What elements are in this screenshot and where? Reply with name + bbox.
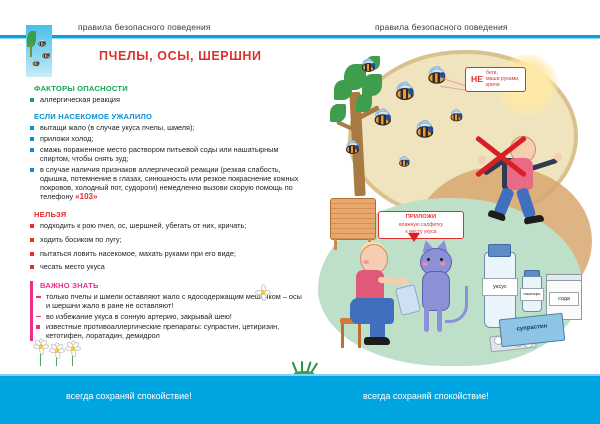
cat-illustration — [404, 238, 472, 346]
list-item: пытаться ловить насекомое, махать руками… — [30, 249, 306, 258]
bee-icon — [393, 87, 413, 98]
accent-bar — [30, 281, 33, 341]
section-if-stung: ЕСЛИ НАСЕКОМОЕ УЖАЛИЛО вытащи жало (в сл… — [30, 112, 306, 201]
bottle-cap-icon — [488, 244, 511, 257]
emergency-phone-number: «103» — [75, 192, 97, 201]
callout-line: влажную салфетку — [383, 222, 459, 228]
list-item: во избежание укуса в сонную артерию, зак… — [36, 312, 306, 321]
bee-icon — [360, 62, 375, 70]
section-danger-factors: ФАКТОРЫ ОПАСНОСТИ аллергическая реакция — [30, 84, 306, 104]
soda-label: сода — [549, 292, 579, 306]
list-item: приложи холод; — [30, 134, 306, 143]
header-label-right: правила безопасного поведения — [375, 22, 508, 32]
callout-running-advice: НЕ беги, маши руками, кричи — [465, 67, 526, 92]
ammonia-label: нашатырь — [520, 288, 544, 301]
daisy-icon — [33, 340, 47, 353]
bee-icon — [414, 125, 434, 135]
section-heading: ЕСЛИ НАСЕКОМОЕ УЖАЛИЛО — [34, 112, 306, 121]
list-item: чесать место укуса — [30, 262, 306, 271]
bee-icon — [372, 113, 391, 123]
section-heading: НЕЛЬЗЯ — [34, 210, 306, 219]
bee-icon — [344, 144, 359, 152]
list-item: ходить босиком по лугу; — [30, 235, 306, 244]
bee-icon — [449, 112, 463, 119]
forbidden-cross-icon — [470, 126, 532, 188]
footer-text-left: всегда сохраняй спокойствие! — [66, 391, 192, 401]
header-label-left: правила безопасного поведения — [78, 22, 211, 32]
daisy-icon — [65, 342, 79, 355]
callout-line: кричи — [486, 83, 520, 88]
beehive-icon — [330, 198, 376, 240]
list-item: известные противоаллергические препараты… — [36, 322, 306, 340]
page-title: ПЧЕЛЫ, ОСЫ, ШЕРШНИ — [99, 49, 262, 63]
list-item: вытащи жало (в случае укуса пчелы, шмеля… — [30, 123, 306, 132]
remedies-illustration: уксус нашатырь сода супрастин — [476, 244, 588, 354]
callout-line: к месту укуса — [383, 229, 459, 235]
footer-highlight — [0, 374, 600, 376]
daisy-icon — [49, 344, 63, 357]
bee-icon — [426, 71, 446, 81]
logo-plate-bees-icon — [26, 25, 52, 77]
bee-icon — [398, 159, 410, 165]
content-column: ФАКТОРЫ ОПАСНОСТИ аллергическая реакция … — [30, 84, 306, 342]
callout-no-word: НЕ — [471, 75, 483, 84]
illustration: НЕ беги, маши руками, кричи ПРИЛОЖИ влаж… — [300, 48, 592, 366]
footer-text-right: всегда сохраняй спокойствие! — [363, 391, 489, 401]
section-list: аллергическая реакция — [30, 95, 306, 104]
vinegar-label: уксус — [482, 278, 518, 296]
list-item: смажь пораженное место раствором питьево… — [30, 145, 306, 163]
section-list: вытащи жало (в случае укуса пчелы, шмеля… — [30, 123, 306, 201]
poster-page: правила безопасного поведения правила бе… — [0, 0, 600, 424]
callout-napkin-advice: ПРИЛОЖИ влажную салфетку к месту укуса — [378, 211, 464, 239]
list-item: аллергическая реакция — [30, 95, 306, 104]
list-item: в случае наличия признаков аллергической… — [30, 165, 306, 202]
section-list: подходить к рою пчел, ос, шершней, убега… — [30, 221, 306, 271]
header-divider-light — [0, 38, 600, 39]
list-item: подходить к рою пчел, ос, шершней, убега… — [30, 221, 306, 230]
callout-title: ПРИЛОЖИ — [383, 215, 459, 221]
section-forbidden: НЕЛЬЗЯ подходить к рою пчел, ос, шершней… — [30, 210, 306, 271]
section-heading: ФАКТОРЫ ОПАСНОСТИ — [34, 84, 306, 93]
daisy-icon — [255, 286, 269, 299]
